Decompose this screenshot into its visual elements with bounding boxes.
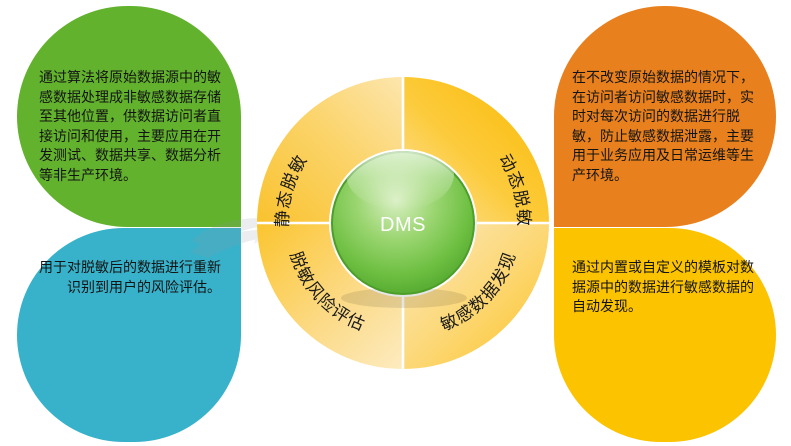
callout-dynamic-masking-text: 在不改变原始数据的情况下，在访问者访问敏感数据时，实时对每次访问的数据进行脱敏，… bbox=[572, 68, 758, 185]
dms-center-label: DMS bbox=[380, 214, 426, 236]
callout-risk-assessment[interactable]: 用于对脱敏后的数据进行重新识别到用户的风险评估。 bbox=[17, 228, 241, 442]
callout-static-masking[interactable]: 通过算法将原始数据源中的敏感数据处理成非敏感数据存储至其他位置，供数据访问者直接… bbox=[17, 6, 241, 227]
callout-data-discovery-text: 通过内置或自定义的模板对数据源中的数据进行敏感数据的自动发现。 bbox=[572, 258, 758, 317]
callout-data-discovery[interactable]: 通过内置或自定义的模板对数据源中的数据进行敏感数据的自动发现。 bbox=[554, 228, 776, 442]
capability-ring: 静态脱敏 动态脱敏 脱敏风险评估 敏感数据发现 DMS bbox=[252, 62, 554, 384]
callout-dynamic-masking[interactable]: 在不改变原始数据的情况下，在访问者访问敏感数据时，实时对每次访问的数据进行脱敏，… bbox=[554, 6, 776, 227]
diagram-canvas: 通过算法将原始数据源中的敏感数据处理成非敏感数据存储至其他位置，供数据访问者直接… bbox=[0, 0, 791, 446]
callout-risk-assessment-text: 用于对脱敏后的数据进行重新识别到用户的风险评估。 bbox=[37, 258, 221, 297]
callout-static-masking-text: 通过算法将原始数据源中的敏感数据处理成非敏感数据存储至其他位置，供数据访问者直接… bbox=[39, 68, 221, 185]
